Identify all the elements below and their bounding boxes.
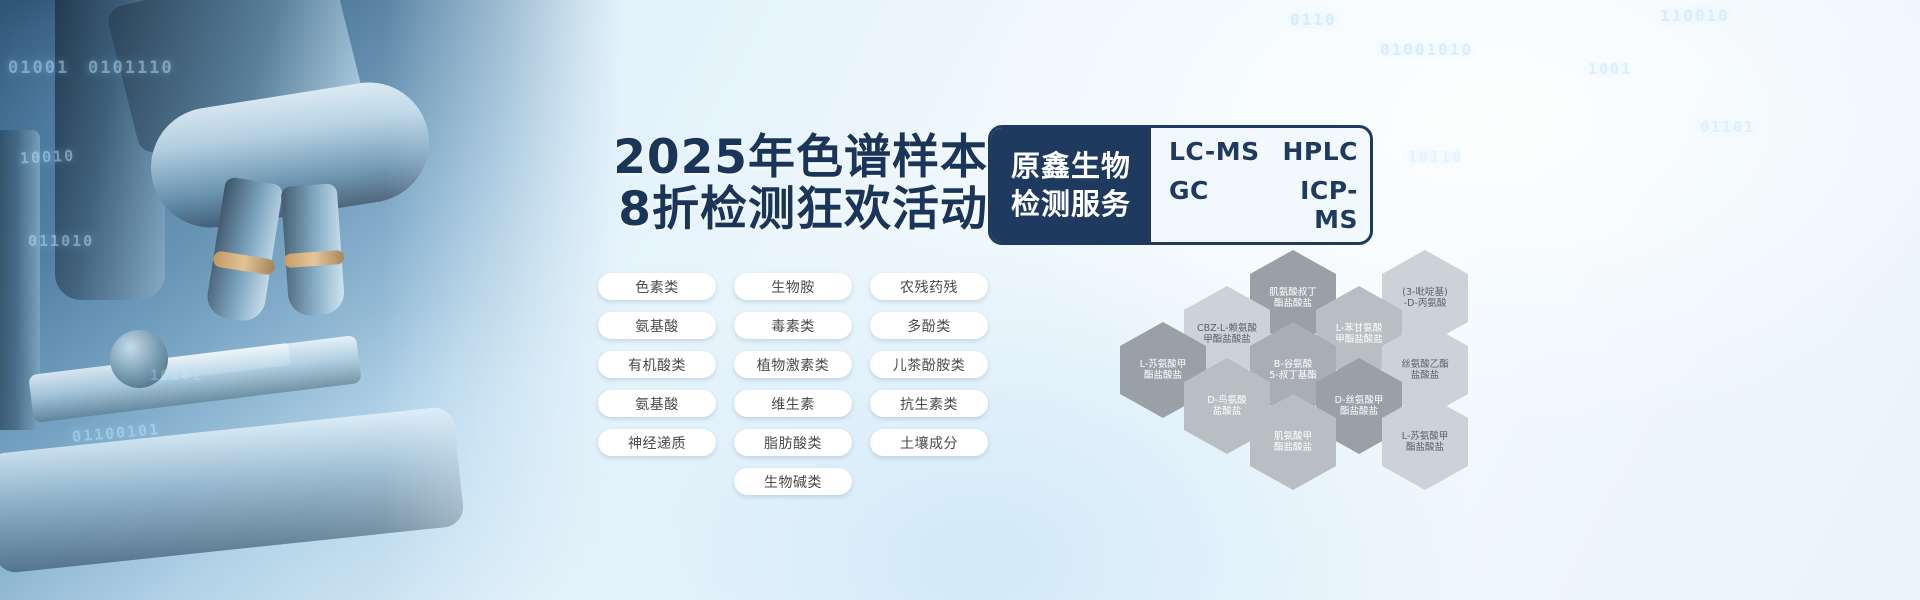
hex-label-line: 丝氨酸乙酯 (1401, 359, 1449, 370)
promo-banner: 01001 0101110 10010 011010 01100101 1010… (0, 0, 1920, 600)
pill-item[interactable]: 有机酸类 (598, 351, 716, 378)
pill-item[interactable]: 生物胺 (734, 273, 852, 300)
hex-label-line: 盐酸盐 (1401, 370, 1449, 381)
hex-label-line: 肌氨酸叔丁 (1269, 287, 1317, 298)
brand-line-1: 原鑫生物 (1011, 149, 1131, 183)
hex-label-line: 甲酯盐酸盐 (1197, 334, 1257, 345)
service-badge: 原鑫生物 检测服务 LC-MS HPLC GC ICP-MS (988, 125, 1373, 245)
pill-item[interactable]: 多酚类 (870, 312, 988, 339)
headline-line-1: 2025年色谱样本 (598, 132, 988, 184)
microscope-photo (0, 0, 620, 600)
binary-decor-10: 01101 (1700, 118, 1755, 136)
headline-line-2: 8折检测狂欢活动 (598, 184, 988, 236)
pill-item[interactable]: 植物激素类 (734, 351, 852, 378)
hex-label-line: L-苯甘氨酸 (1335, 323, 1383, 334)
pill-column-2: 生物胺 毒素类 植物激素类 维生素 脂肪酸类 生物碱类 (734, 273, 852, 495)
category-pill-groups: 色素类 氨基酸 有机酸类 氨基酸 神经递质 生物胺 毒素类 植物激素类 维生素 … (598, 273, 988, 495)
pill-item[interactable]: 氨基酸 (598, 312, 716, 339)
pill-column-1: 色素类 氨基酸 有机酸类 氨基酸 神经递质 (598, 273, 716, 495)
headline: 2025年色谱样本 8折检测狂欢活动 (598, 132, 988, 236)
pill-item[interactable]: 生物碱类 (734, 468, 852, 495)
hex-label-line: D-丝氨酸甲 (1335, 395, 1384, 406)
hex-label-line: 酯盐酸盐 (1269, 298, 1317, 309)
pill-item[interactable]: 维生素 (734, 390, 852, 417)
hex-label-line: 甲酯盐酸盐 (1335, 334, 1383, 345)
pill-item[interactable]: 脂肪酸类 (734, 429, 852, 456)
hex-label-line: B-谷氨酸 (1269, 359, 1316, 370)
pill-column-3: 农残药残 多酚类 儿茶酚胺类 抗生素类 土壤成分 (870, 273, 988, 495)
binary-decor-7: 01001010 (1380, 40, 1473, 59)
pill-item[interactable]: 农残药残 (870, 273, 988, 300)
hex-label-line: (3-吡啶基) (1402, 287, 1447, 298)
hex-label-line: L-苏氨酸甲 (1140, 359, 1187, 370)
pill-item[interactable]: 抗生素类 (870, 390, 988, 417)
binary-decor-6: 0110 (1290, 10, 1337, 29)
compound-hex-cluster: 肌氨酸叔丁 酯盐酸盐 (3-吡啶基) -D-丙氨酸 CBZ-L-赖氨酸 甲酯盐酸… (1120, 250, 1520, 470)
hex-label-line: 酯盐酸盐 (1402, 442, 1449, 453)
hex-label-line: CBZ-L-赖氨酸 (1197, 323, 1257, 334)
hex-label-line: D-鸟氨酸 (1207, 395, 1246, 406)
technique-lc-ms: LC-MS (1169, 137, 1267, 166)
pill-item[interactable]: 氨基酸 (598, 390, 716, 417)
hex-label-line: 酯盐酸盐 (1140, 370, 1187, 381)
pill-item[interactable]: 土壤成分 (870, 429, 988, 456)
brand-block: 原鑫生物 检测服务 (991, 128, 1151, 242)
hex-label-line: 5-叔丁基酯 (1269, 370, 1316, 381)
binary-decor-8: 110010 (1660, 6, 1730, 25)
brand-line-2: 检测服务 (1011, 187, 1131, 221)
pill-item[interactable]: 儿茶酚胺类 (870, 351, 988, 378)
binary-decor-11: 10110 (1408, 148, 1463, 166)
technique-gc: GC (1169, 176, 1267, 234)
hex-label-line: 酯盐酸盐 (1274, 442, 1312, 453)
technique-list: LC-MS HPLC GC ICP-MS (1151, 128, 1370, 242)
technique-hplc: HPLC (1267, 137, 1365, 166)
pill-item[interactable]: 神经递质 (598, 429, 716, 456)
technique-icp-ms: ICP-MS (1267, 176, 1365, 234)
hex-label-line: L-苏氨酸甲 (1402, 431, 1449, 442)
hex-label-line: 酯盐酸盐 (1335, 406, 1384, 417)
pill-item[interactable]: 毒素类 (734, 312, 852, 339)
pill-item[interactable]: 色素类 (598, 273, 716, 300)
hex-label-line: 肌氨酸甲 (1274, 431, 1312, 442)
hex-label-line: -D-丙氨酸 (1402, 298, 1447, 309)
binary-decor-9: 1001 (1588, 60, 1632, 78)
hex-label-line: 盐酸盐 (1207, 406, 1246, 417)
